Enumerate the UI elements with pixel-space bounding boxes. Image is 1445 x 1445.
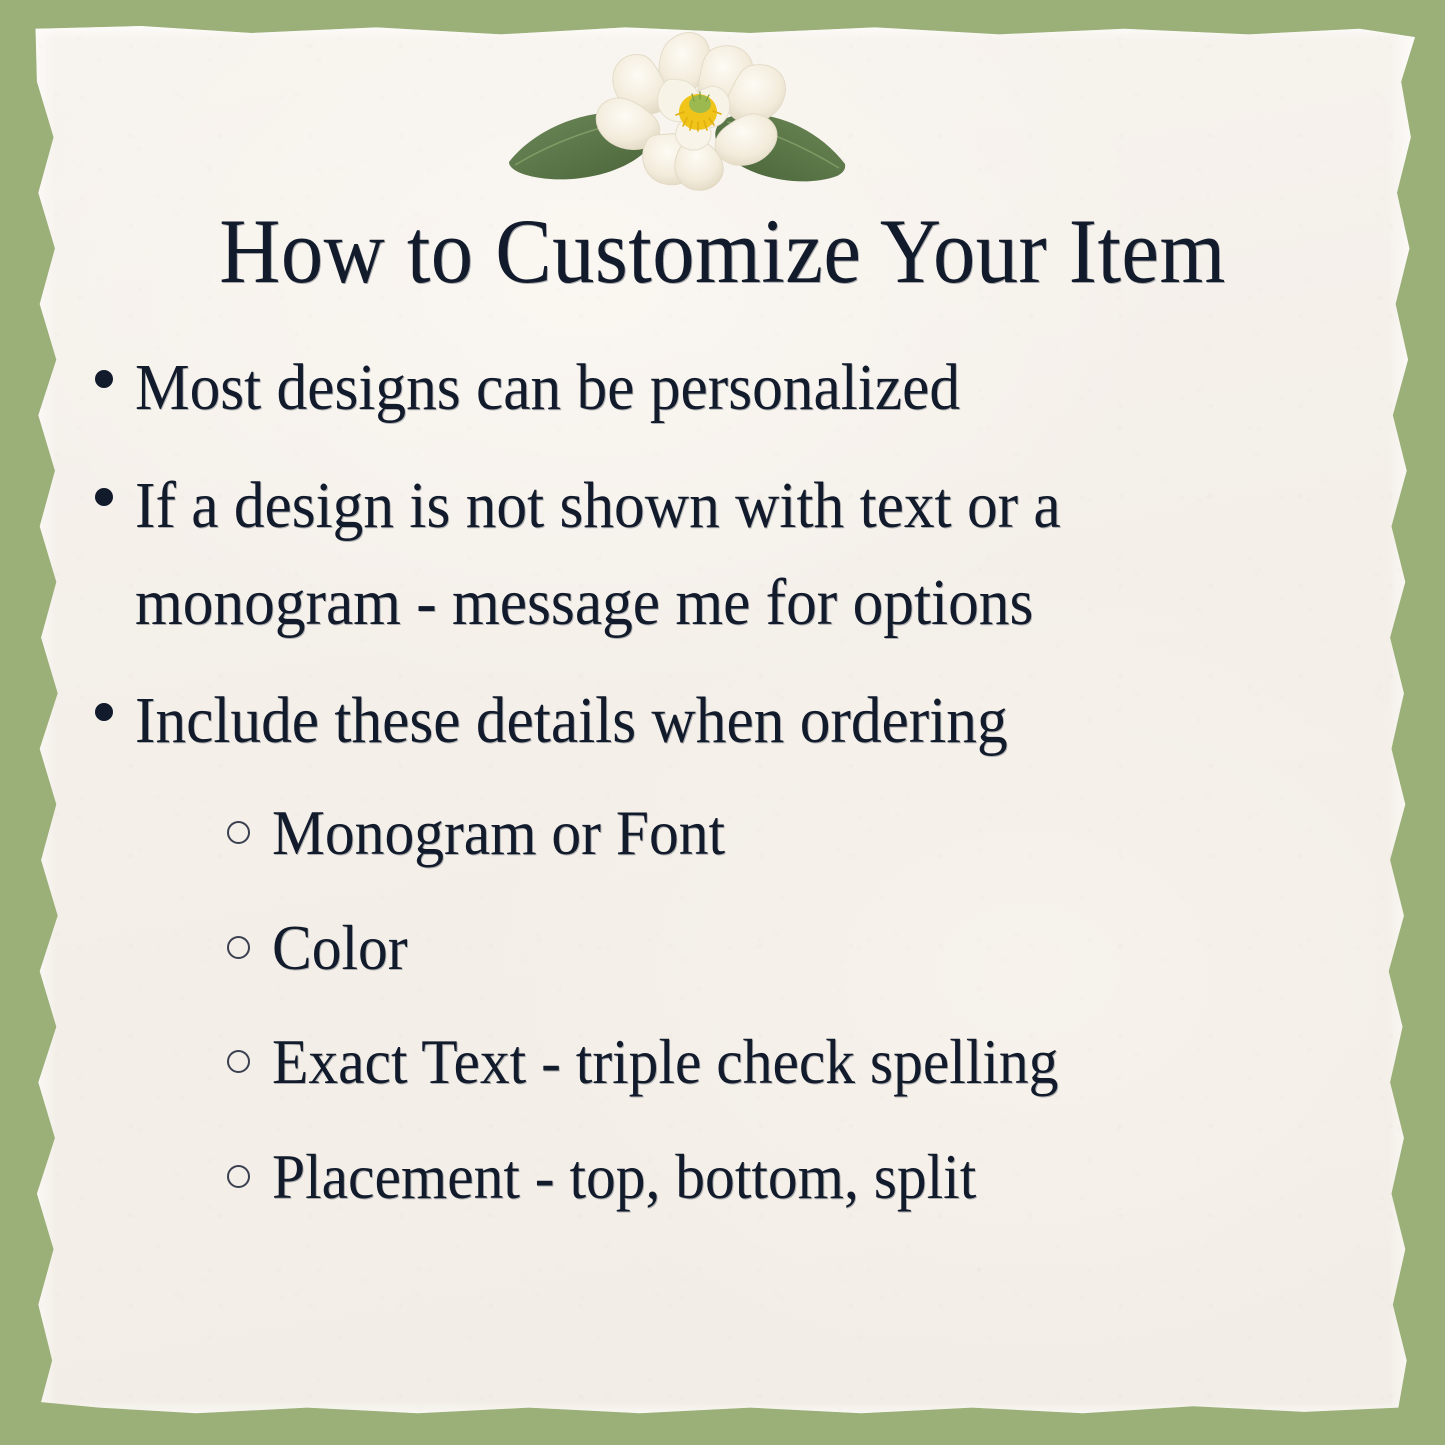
list-item-label: Most designs can be personalized [135, 340, 960, 436]
disc-bullet-icon [95, 370, 113, 388]
sub-list-item: Placement - top, bottom, split [227, 1135, 1355, 1219]
sub-list-item: Exact Text - triple check spelling [227, 1020, 1355, 1104]
sub-list-item-label: Exact Text - triple check spelling [272, 1020, 1058, 1104]
page-title: How to Customize Your Item [58, 205, 1387, 297]
magnolia-flower-icon [497, 22, 857, 212]
disc-bullet-icon [95, 703, 113, 721]
instruction-list: Most designs can be personalized If a de… [95, 340, 1355, 1249]
circle-bullet-icon [227, 936, 250, 959]
list-item-label: Include these details when ordering [135, 673, 1008, 769]
sub-list-item-label: Placement - top, bottom, split [272, 1135, 976, 1219]
sub-list-item-label: Monogram or Font [272, 791, 725, 875]
sub-list-item: Color [227, 906, 1355, 990]
content-layer: How to Customize Your Item Most designs … [0, 0, 1445, 1445]
circle-bullet-icon [227, 1050, 250, 1073]
list-item: Include these details when ordering [95, 673, 1355, 769]
sub-list-item: Monogram or Font [227, 791, 1355, 875]
list-item-label: If a design is not shown with text or a … [135, 458, 1270, 651]
order-details-sublist: Monogram or Font Color Exact Text - trip… [227, 791, 1355, 1219]
list-item: If a design is not shown with text or a … [95, 458, 1355, 651]
list-item: Most designs can be personalized [95, 340, 1355, 436]
info-graphic-canvas: How to Customize Your Item Most designs … [0, 0, 1445, 1445]
disc-bullet-icon [95, 488, 113, 506]
circle-bullet-icon [227, 1165, 250, 1188]
sub-list-item-label: Color [272, 906, 408, 990]
circle-bullet-icon [227, 821, 250, 844]
